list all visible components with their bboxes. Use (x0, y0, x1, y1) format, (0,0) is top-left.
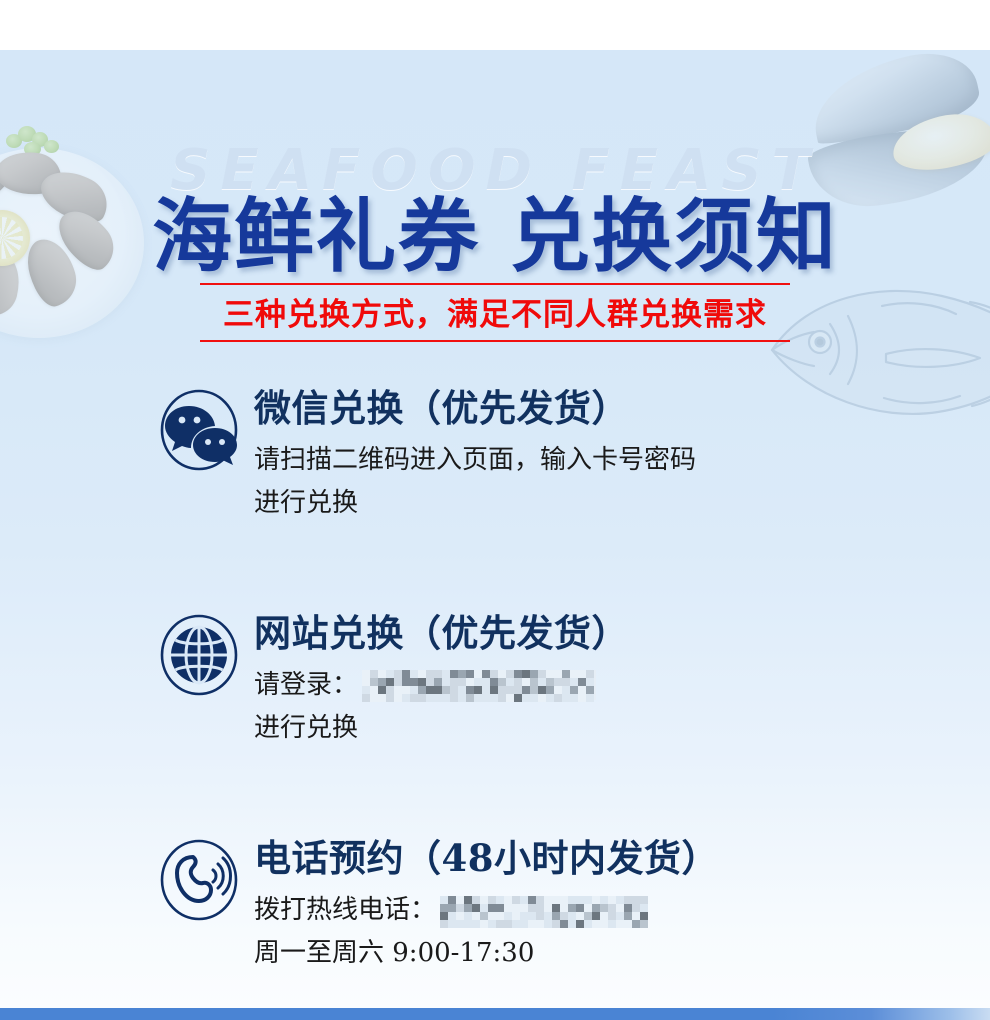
subtitle-banner: 三种兑换方式，满足不同人群兑换需求 (200, 283, 790, 342)
section-line-text: 请登录： (254, 664, 358, 707)
section-body: 微信兑换（优先发货） 请扫描二维码进入页面，输入卡号密码 进行兑换 (254, 388, 918, 524)
section-line: 进行兑换 (254, 482, 918, 525)
subtitle-text: 三种兑换方式，满足不同人群兑换需求 (200, 289, 790, 334)
wechat-icon (158, 388, 240, 472)
content-panel: SEAFOOD FEAST 海鲜礼券 兑换须知 三种兑换方式，满足不同人群兑换需… (0, 50, 990, 1008)
section-line-text: 进行兑换 (254, 707, 358, 750)
page-title: 海鲜礼券 兑换须知 (0, 172, 990, 288)
section-line: 拨打热线电话： (254, 889, 918, 932)
phone-icon (158, 838, 240, 922)
section-website: 网站兑换（优先发货） 请登录： 进行兑换 (158, 613, 918, 749)
globe-icon (158, 613, 240, 697)
section-line: 进行兑换 (254, 707, 918, 750)
promo-page: SEAFOOD FEAST 海鲜礼券 兑换须知 三种兑换方式，满足不同人群兑换需… (0, 0, 990, 1020)
section-heading: 网站兑换（优先发货） (254, 613, 918, 654)
section-line-text: 周一至周六 9:00-17:30 (254, 932, 534, 975)
redacted-phone-mosaic (440, 896, 646, 924)
section-line: 周一至周六 9:00-17:30 (254, 932, 918, 975)
section-heading: 电话预约（48小时内发货） (254, 838, 918, 879)
mussel-upper-shell (804, 50, 983, 149)
section-line-text: 请扫描二维码进入页面，输入卡号密码 (254, 439, 696, 482)
section-line-text: 进行兑换 (254, 482, 358, 525)
bottom-accent-bar (0, 1008, 990, 1020)
section-line: 请扫描二维码进入页面，输入卡号密码 (254, 439, 918, 482)
section-body: 网站兑换（优先发货） 请登录： 进行兑换 (254, 613, 918, 749)
section-phone: 电话预约（48小时内发货） 拨打热线电话： 周一至周六 9:00-17:30 (158, 838, 918, 974)
section-body: 电话预约（48小时内发货） 拨打热线电话： 周一至周六 9:00-17:30 (254, 838, 918, 974)
section-wechat: 微信兑换（优先发货） 请扫描二维码进入页面，输入卡号密码 进行兑换 (158, 388, 918, 524)
section-line: 请登录： (254, 664, 918, 707)
section-heading: 微信兑换（优先发货） (254, 388, 918, 429)
section-line-text: 拨打热线电话： (254, 889, 436, 932)
redacted-url-mosaic (362, 670, 596, 700)
